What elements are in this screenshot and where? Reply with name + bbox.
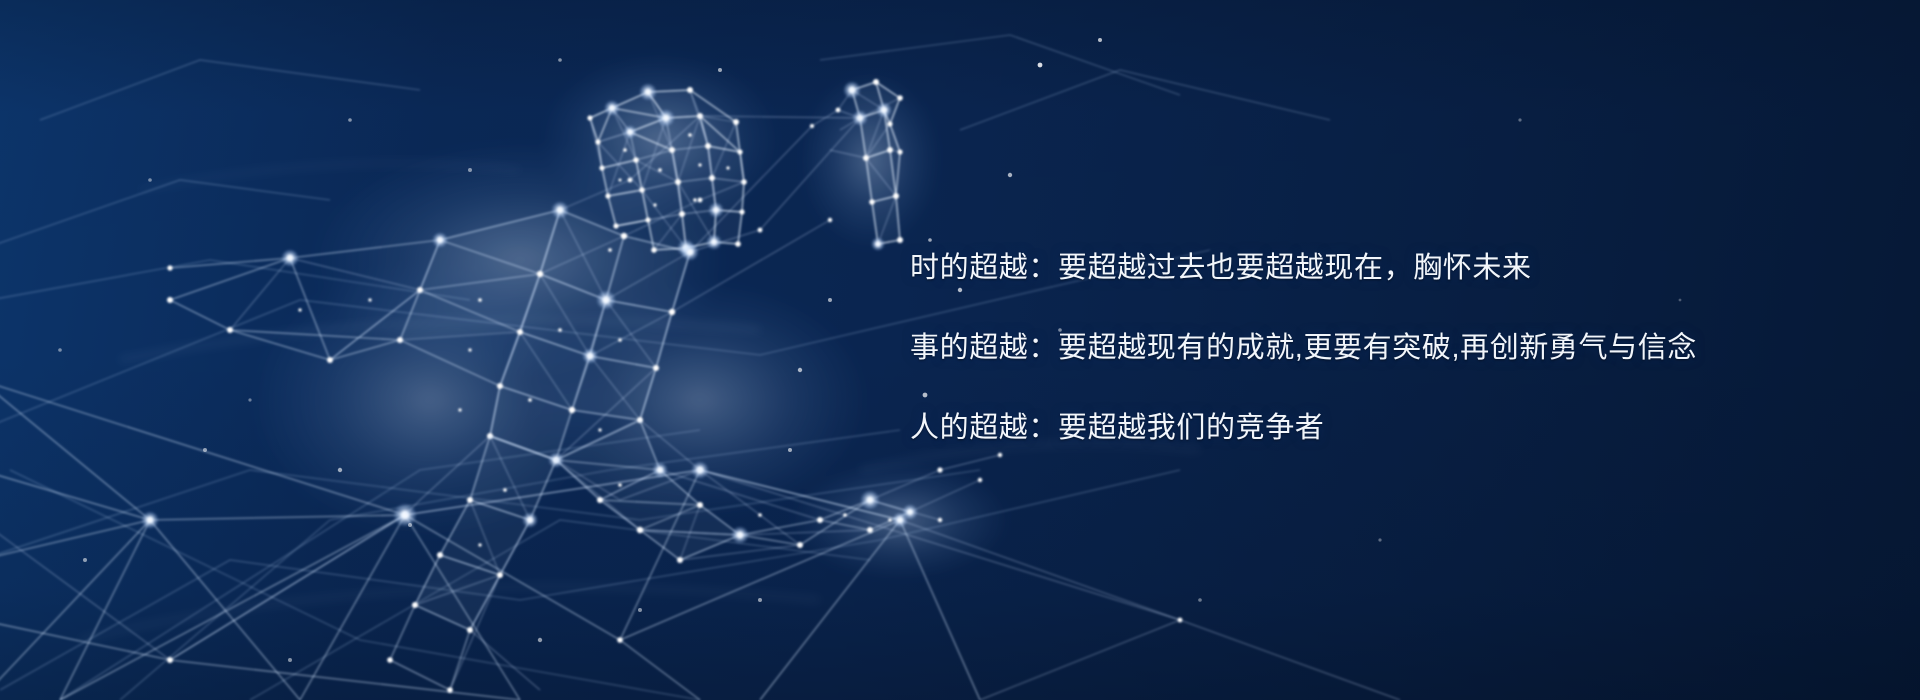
slogan-line-2: 事的超越：要超越现有的成就,更要有突破,再创新勇气与信念 — [910, 308, 1870, 388]
slogan-line-3: 人的超越：要超越我们的竞争者 — [910, 388, 1870, 468]
slogan-line-1: 时的超越：要超越过去也要超越现在，胸怀未来 — [910, 228, 1870, 308]
hero-banner: .ln { stroke:#d7e8ff; stroke-opacity:.62… — [0, 0, 1920, 700]
slogan-block: 时的超越：要超越过去也要超越现在，胸怀未来 事的超越：要超越现有的成就,更要有突… — [910, 228, 1870, 468]
